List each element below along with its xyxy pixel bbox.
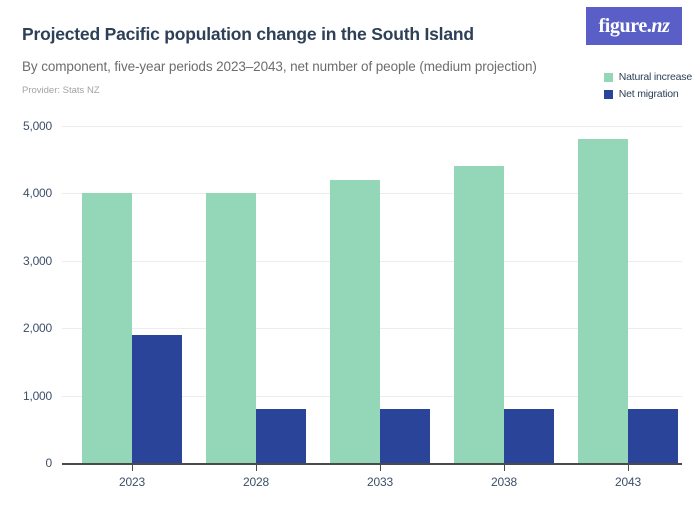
x-axis-tick-label: 2043 xyxy=(615,475,641,489)
y-axis-tick-label: 1,000 xyxy=(23,389,52,403)
x-axis-tick-mark xyxy=(504,463,505,471)
chart-plot: 01,0002,0003,0004,0005,000 2023202820332… xyxy=(0,0,700,525)
bars-layer xyxy=(62,126,682,463)
bar-net-migration-2023[interactable] xyxy=(132,335,182,463)
x-axis-line xyxy=(62,463,682,465)
bar-natural-increase-2043[interactable] xyxy=(578,139,628,463)
x-axis-tick-mark xyxy=(380,463,381,471)
bar-net-migration-2043[interactable] xyxy=(628,409,678,463)
x-axis-tick-mark xyxy=(256,463,257,471)
y-axis-tick-label: 0 xyxy=(46,456,52,470)
bar-natural-increase-2023[interactable] xyxy=(82,193,132,463)
x-axis-tick-label: 2023 xyxy=(119,475,145,489)
bar-net-migration-2038[interactable] xyxy=(504,409,554,463)
y-axis-tick-label: 4,000 xyxy=(23,186,52,200)
x-axis-tick-label: 2033 xyxy=(367,475,393,489)
bar-natural-increase-2033[interactable] xyxy=(330,180,380,463)
y-axis-tick-label: 2,000 xyxy=(23,321,52,335)
x-axis-tick-label: 2038 xyxy=(491,475,517,489)
bar-net-migration-2028[interactable] xyxy=(256,409,306,463)
y-axis-tick-label: 5,000 xyxy=(23,119,52,133)
figure-container: Projected Pacific population change in t… xyxy=(0,0,700,525)
bar-natural-increase-2038[interactable] xyxy=(454,166,504,463)
x-axis-tick-mark xyxy=(132,463,133,471)
bar-net-migration-2033[interactable] xyxy=(380,409,430,463)
y-axis-tick-label: 3,000 xyxy=(23,254,52,268)
x-axis-tick-label: 2028 xyxy=(243,475,269,489)
bar-natural-increase-2028[interactable] xyxy=(206,193,256,463)
x-axis-tick-mark xyxy=(628,463,629,471)
